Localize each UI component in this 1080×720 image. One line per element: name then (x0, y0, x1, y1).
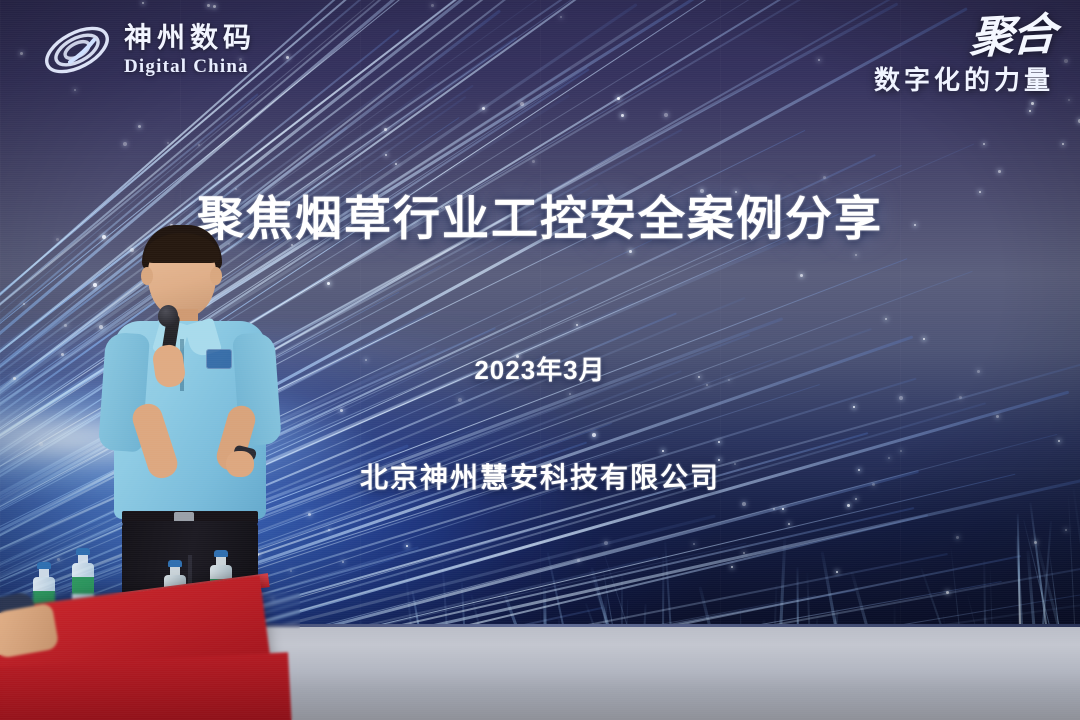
speaker-person (96, 225, 286, 625)
digital-china-swirl-icon (40, 18, 114, 82)
logo-english-text: Digital China (124, 57, 256, 76)
digital-china-logo: 神州数码 Digital China (40, 18, 256, 82)
digital-china-wordmark: 神州数码 Digital China (124, 24, 256, 76)
speaker-ear-left (141, 267, 153, 285)
event-logo: 聚合 数字化的力量 (874, 16, 1054, 97)
speaker-chest-logo (206, 349, 232, 369)
event-logo-subtitle: 数字化的力量 (874, 60, 1054, 97)
logo-chinese-text: 神州数码 (124, 24, 256, 52)
photo-stage: 神州数码 Digital China 聚合 数字化的力量 聚焦烟草行业工控安全案… (0, 0, 1080, 720)
speaker-hand-right (226, 451, 254, 477)
event-logo-calligraphy: 聚合 (969, 14, 1056, 60)
speaker-ear-right (210, 267, 222, 285)
